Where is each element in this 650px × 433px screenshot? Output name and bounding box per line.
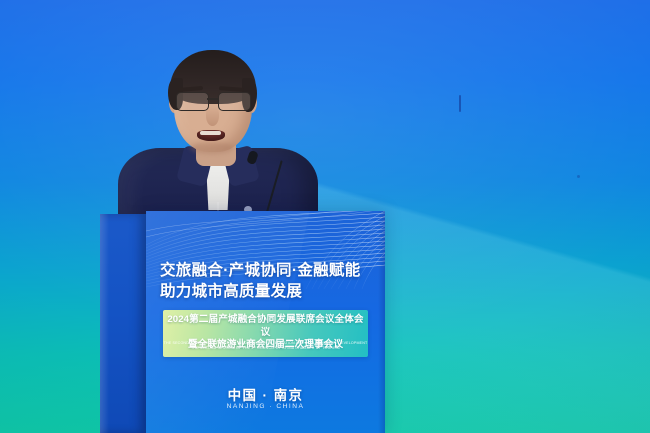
conference-photo: 交旅融合·产城协同·金融赋能 助力城市高质量发展 2024第二届产城融合协同发展… (0, 0, 650, 433)
banner-cn-line-1: 2024第二届产城融合协同发展联席会议全体会议 (163, 314, 368, 339)
podium-right-edge (378, 211, 385, 433)
conference-title-banner: 2024第二届产城融合协同发展联席会议全体会议 暨全联旅游业商会四届二次理事会议… (163, 310, 368, 357)
lens-left (176, 92, 209, 111)
speaker-mouth (197, 130, 225, 141)
headline-line-2: 助力城市高质量发展 (160, 281, 376, 302)
podium-front-panel: 交旅融合·产城协同·金融赋能 助力城市高质量发展 2024第二届产城融合协同发展… (146, 211, 385, 433)
podium-side-highlight (100, 214, 109, 433)
speaker-figure (118, 44, 318, 226)
banner-english-title: THE SECOND JOINT CONFERENCE ON INDUSTRY … (163, 341, 368, 352)
backdrop-mark (459, 95, 461, 112)
backdrop-mark-secondary (577, 175, 580, 178)
speaker-teeth (200, 131, 221, 135)
lens-right (218, 92, 251, 111)
glasses-bridge (207, 98, 218, 100)
location-english: NANJING · CHINA (146, 403, 385, 410)
podium-headline: 交旅融合·产城协同·金融赋能 助力城市高质量发展 (160, 260, 376, 302)
speaker-nose (206, 106, 219, 126)
chin-shadow (190, 142, 234, 154)
banner-en-line-2: THE SECOND SESSION OF THE 4ᵗʰ COUNCIL OF… (163, 346, 368, 351)
headline-line-1: 交旅融合·产城协同·金融赋能 (160, 262, 361, 279)
location-chinese: 中国 · 南京 (146, 384, 385, 404)
